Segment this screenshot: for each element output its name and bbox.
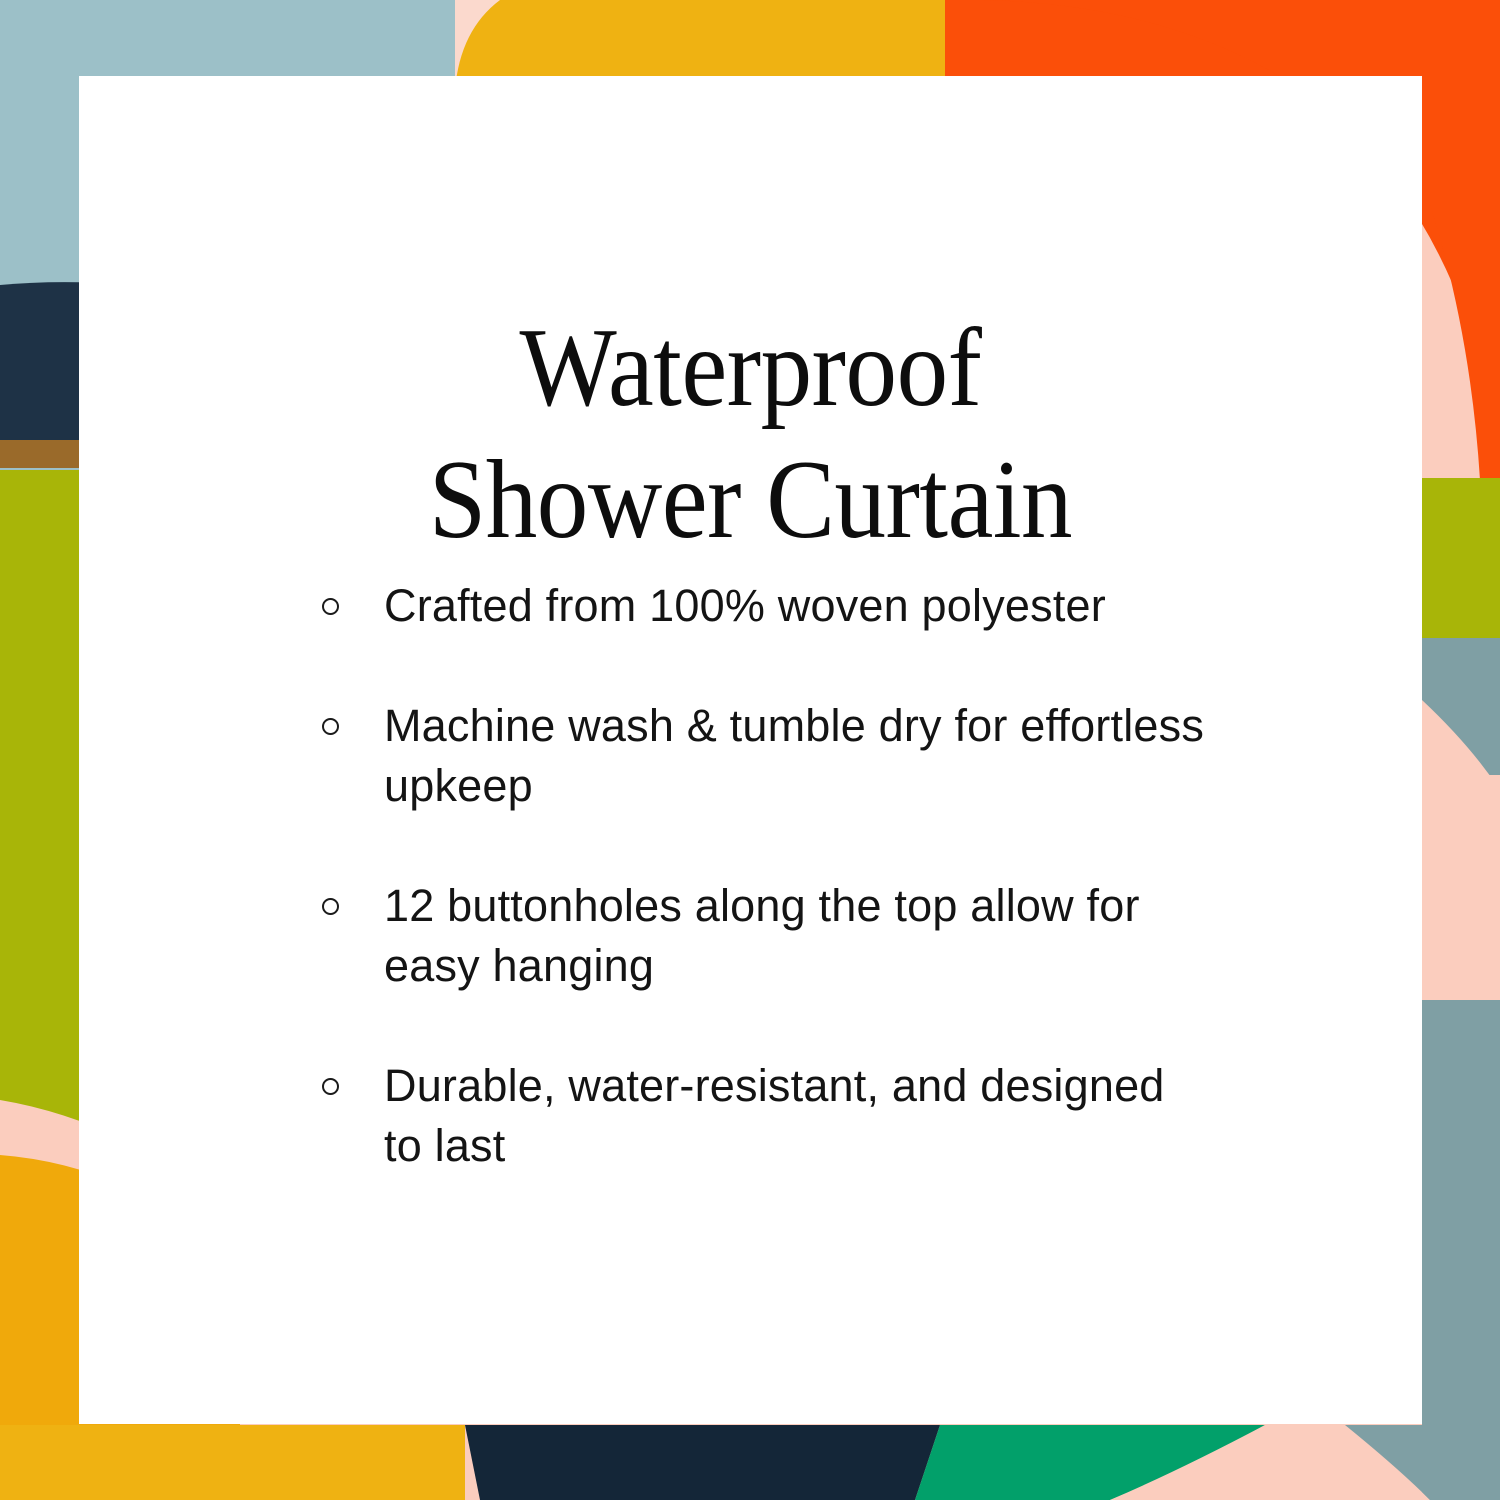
shape-olive-right [1422, 478, 1500, 646]
feature-text: Crafted from 100% woven polyester [384, 576, 1214, 636]
list-item: Machine wash & tumble dry for effortless… [322, 696, 1322, 816]
title-line-1: Waterproof [133, 302, 1369, 434]
feature-text: Durable, water-resistant, and designed t… [384, 1056, 1214, 1176]
title-line-2: Shower Curtain [133, 434, 1369, 566]
hollow-circle-bullet-icon [322, 598, 339, 615]
list-item: Crafted from 100% woven polyester [322, 576, 1322, 636]
feature-text: Machine wash & tumble dry for effortless… [384, 696, 1214, 816]
feature-text: 12 buttonholes along the top allow for e… [384, 876, 1214, 996]
hollow-circle-bullet-icon [322, 898, 339, 915]
feature-list: Crafted from 100% woven polyester Machin… [322, 576, 1322, 1176]
shape-amber-bottom-bar [0, 1425, 465, 1500]
list-item: 12 buttonholes along the top allow for e… [322, 876, 1322, 996]
product-feature-graphic: Waterproof Shower Curtain Crafted from 1… [0, 0, 1500, 1500]
list-item: Durable, water-resistant, and designed t… [322, 1056, 1322, 1176]
hollow-circle-bullet-icon [322, 1078, 339, 1095]
page-title: Waterproof Shower Curtain [79, 302, 1422, 566]
shape-navy-bottom [465, 1425, 940, 1500]
hollow-circle-bullet-icon [322, 718, 339, 735]
shape-pink-right [1422, 775, 1500, 1000]
content-card: Waterproof Shower Curtain Crafted from 1… [79, 76, 1422, 1424]
